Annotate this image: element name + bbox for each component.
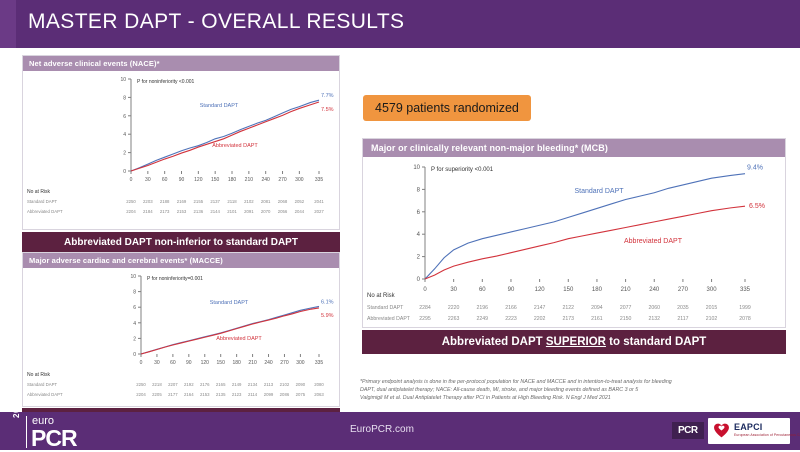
svg-text:2204: 2204: [126, 209, 136, 214]
svg-text:Standard DAPT: Standard DAPT: [200, 103, 239, 109]
footnote: *Primary endpoint analysis is done in th…: [360, 378, 792, 403]
svg-text:2052: 2052: [295, 199, 305, 204]
chart-nace-svg: 02468100306090120150180210240270300335P …: [23, 71, 339, 223]
svg-text:2144: 2144: [210, 209, 220, 214]
svg-text:2147: 2147: [534, 305, 546, 311]
svg-text:6: 6: [133, 305, 136, 311]
svg-text:90: 90: [186, 360, 192, 366]
svg-text:2: 2: [123, 151, 126, 157]
svg-text:2161: 2161: [591, 316, 603, 322]
svg-text:Standard DAPT: Standard DAPT: [210, 300, 249, 306]
svg-text:6: 6: [123, 114, 126, 120]
svg-text:6.5%: 6.5%: [749, 203, 765, 210]
svg-text:120: 120: [535, 287, 546, 293]
svg-text:2077: 2077: [620, 305, 632, 311]
svg-text:240: 240: [262, 177, 271, 183]
svg-text:60: 60: [162, 177, 168, 183]
svg-text:2114: 2114: [248, 392, 258, 397]
svg-text:210: 210: [621, 287, 632, 293]
svg-text:2184: 2184: [143, 209, 153, 214]
eapci-logo: EAPCI European Association of Percutaneo…: [708, 418, 790, 444]
svg-text:2192: 2192: [184, 382, 194, 387]
svg-text:0: 0: [123, 169, 126, 175]
svg-text:2164: 2164: [184, 392, 194, 397]
chart-macce-svg: 02468100306090120150180210240270300335P …: [23, 268, 339, 400]
banner-nace: Abbreviated DAPT non-inferior to standar…: [22, 232, 340, 253]
svg-text:No at Risk: No at Risk: [367, 293, 396, 299]
svg-text:335: 335: [740, 287, 751, 293]
svg-text:P for superiority <0.001: P for superiority <0.001: [431, 167, 494, 173]
svg-text:2075: 2075: [296, 392, 306, 397]
panel-nace-header: Net adverse clinical events (NACE)*: [23, 56, 339, 71]
svg-text:2202: 2202: [534, 316, 546, 322]
svg-text:2094: 2094: [591, 305, 603, 311]
chart-mcb-svg: 02468100306090120150180210240270300335P …: [363, 157, 785, 325]
svg-text:2118: 2118: [227, 199, 237, 204]
svg-text:7.5%: 7.5%: [321, 107, 334, 113]
banner-mcb-pre: Abbreviated DAPT: [442, 336, 546, 348]
svg-text:2134: 2134: [248, 382, 258, 387]
panel-mcb-header: Major or clinically relevant non-major b…: [363, 139, 785, 157]
svg-text:270: 270: [280, 360, 289, 366]
svg-text:180: 180: [592, 287, 603, 293]
page-title: MASTER DAPT - OVERALL RESULTS: [28, 10, 404, 34]
svg-text:180: 180: [232, 360, 241, 366]
svg-text:0: 0: [423, 287, 427, 293]
svg-text:2078: 2078: [739, 316, 751, 322]
svg-text:8: 8: [123, 95, 126, 101]
svg-text:2177: 2177: [168, 392, 178, 397]
svg-text:2169: 2169: [177, 199, 187, 204]
svg-text:2063: 2063: [314, 392, 324, 397]
svg-text:2015: 2015: [706, 305, 718, 311]
svg-text:2165: 2165: [216, 382, 226, 387]
svg-text:270: 270: [678, 287, 689, 293]
svg-text:120: 120: [201, 360, 210, 366]
banner-mcb-emphasis: SUPERIOR: [546, 336, 606, 348]
svg-text:10: 10: [130, 274, 136, 280]
svg-text:8: 8: [133, 290, 136, 296]
svg-text:150: 150: [211, 177, 220, 183]
chart-nace: 02468100306090120150180210240270300335P …: [23, 71, 339, 223]
svg-text:240: 240: [649, 287, 660, 293]
svg-text:6: 6: [417, 210, 421, 216]
banner-mcb: Abbreviated DAPT SUPERIOR to standard DA…: [362, 330, 786, 354]
svg-text:2132: 2132: [648, 316, 660, 322]
svg-text:2207: 2207: [168, 382, 178, 387]
svg-text:2153: 2153: [200, 392, 210, 397]
svg-text:P for noninferiority <0.001: P for noninferiority <0.001: [137, 79, 195, 85]
svg-text:2068: 2068: [278, 199, 288, 204]
svg-text:2081: 2081: [261, 199, 271, 204]
panel-macce-header: Major adverse cardiac and cerebral event…: [23, 253, 339, 268]
title-accent-bar: [0, 0, 16, 48]
svg-text:0: 0: [133, 352, 136, 358]
svg-text:2250: 2250: [126, 199, 136, 204]
svg-text:60: 60: [170, 360, 176, 366]
svg-text:0: 0: [417, 277, 421, 283]
svg-text:270: 270: [278, 177, 287, 183]
svg-text:300: 300: [296, 360, 305, 366]
svg-text:2086: 2086: [280, 392, 290, 397]
svg-text:Abbreviated DAPT: Abbreviated DAPT: [212, 143, 258, 149]
svg-text:4: 4: [123, 132, 126, 138]
svg-text:2135: 2135: [216, 392, 226, 397]
svg-text:2173: 2173: [563, 316, 575, 322]
svg-text:2218: 2218: [152, 382, 162, 387]
svg-text:2249: 2249: [477, 316, 489, 322]
svg-text:90: 90: [179, 177, 185, 183]
svg-text:8: 8: [417, 187, 421, 193]
pcr-badge: PCR: [672, 422, 704, 439]
svg-text:60: 60: [479, 287, 486, 293]
eapci-name: EAPCI: [734, 422, 763, 432]
svg-text:Abbreviated DAPT: Abbreviated DAPT: [624, 238, 683, 245]
logo-divider: [26, 416, 27, 448]
panel-macce: Major adverse cardiac and cerebral event…: [22, 252, 340, 407]
svg-text:2196: 2196: [477, 305, 489, 311]
svg-text:300: 300: [707, 287, 718, 293]
svg-text:6.1%: 6.1%: [321, 299, 334, 305]
svg-text:10: 10: [120, 77, 126, 83]
svg-text:2188: 2188: [160, 199, 170, 204]
svg-text:2101: 2101: [227, 209, 237, 214]
panel-nace: Net adverse clinical events (NACE)* 0246…: [22, 55, 340, 230]
europcr-logo: 2024 euro PCR: [10, 414, 96, 450]
svg-text:335: 335: [315, 177, 324, 183]
svg-text:10: 10: [413, 165, 420, 171]
svg-text:2153: 2153: [177, 209, 187, 214]
slide-title-band: MASTER DAPT - OVERALL RESULTS: [0, 0, 800, 48]
svg-text:2091: 2091: [244, 209, 254, 214]
heart-icon: [713, 422, 730, 439]
logo-pcr-text: PCR: [31, 425, 77, 452]
svg-text:5.9%: 5.9%: [321, 313, 334, 319]
svg-text:2102: 2102: [244, 199, 254, 204]
svg-text:180: 180: [228, 177, 237, 183]
svg-text:2173: 2173: [160, 209, 170, 214]
svg-text:2149: 2149: [232, 382, 242, 387]
svg-text:210: 210: [245, 177, 254, 183]
svg-text:0: 0: [140, 360, 143, 366]
svg-text:2027: 2027: [314, 209, 324, 214]
svg-text:2205: 2205: [152, 392, 162, 397]
svg-text:2284: 2284: [419, 305, 431, 311]
svg-text:240: 240: [264, 360, 273, 366]
svg-text:Abbreviated DAPT: Abbreviated DAPT: [216, 336, 262, 342]
svg-text:2060: 2060: [648, 305, 660, 311]
svg-text:2056: 2056: [278, 209, 288, 214]
svg-text:2220: 2220: [448, 305, 460, 311]
footer-website[interactable]: EuroPCR.com: [350, 424, 414, 435]
banner-mcb-post: to standard DAPT: [606, 336, 706, 348]
svg-text:P for noninferiority=0.001: P for noninferiority=0.001: [147, 276, 203, 282]
svg-text:150: 150: [217, 360, 226, 366]
svg-text:2090: 2090: [296, 382, 306, 387]
svg-text:30: 30: [154, 360, 160, 366]
svg-text:120: 120: [194, 177, 203, 183]
svg-text:4: 4: [417, 232, 421, 238]
svg-text:2102: 2102: [706, 316, 718, 322]
svg-text:Standard DAPT: Standard DAPT: [367, 305, 404, 311]
svg-text:2150: 2150: [620, 316, 632, 322]
svg-text:1999: 1999: [739, 305, 751, 311]
svg-text:2041: 2041: [314, 199, 324, 204]
svg-text:Abbreviated DAPT: Abbreviated DAPT: [27, 209, 63, 214]
svg-text:2137: 2137: [210, 199, 220, 204]
svg-text:No at Risk: No at Risk: [27, 189, 51, 195]
svg-text:2250: 2250: [136, 382, 146, 387]
svg-text:2136: 2136: [194, 209, 204, 214]
svg-text:335: 335: [315, 360, 324, 366]
svg-text:2117: 2117: [677, 316, 688, 322]
svg-text:2070: 2070: [261, 209, 271, 214]
svg-text:2113: 2113: [264, 382, 274, 387]
svg-text:2122: 2122: [563, 305, 575, 311]
svg-text:2223: 2223: [505, 316, 517, 322]
panel-mcb: Major or clinically relevant non-major b…: [362, 138, 786, 328]
svg-text:2080: 2080: [314, 382, 324, 387]
svg-text:30: 30: [450, 287, 457, 293]
svg-text:90: 90: [508, 287, 515, 293]
svg-text:Standard DAPT: Standard DAPT: [27, 382, 57, 387]
footnote-line-1: *Primary endpoint analysis is done in th…: [360, 378, 792, 386]
logo-year: 2024: [12, 398, 21, 418]
chart-macce: 02468100306090120150180210240270300335P …: [23, 268, 339, 400]
svg-text:300: 300: [295, 177, 304, 183]
footnote-line-3: Valgimigli M et al. Dual Antiplatelet Th…: [360, 394, 792, 402]
svg-text:9.4%: 9.4%: [747, 165, 763, 172]
svg-text:2099: 2099: [264, 392, 274, 397]
svg-text:No at Risk: No at Risk: [27, 372, 51, 378]
svg-text:2295: 2295: [419, 316, 431, 322]
svg-text:7.7%: 7.7%: [321, 93, 334, 99]
svg-text:2035: 2035: [677, 305, 689, 311]
svg-text:30: 30: [145, 177, 151, 183]
svg-text:2: 2: [133, 336, 136, 342]
svg-text:2176: 2176: [200, 382, 210, 387]
svg-text:Abbreviated DAPT: Abbreviated DAPT: [367, 316, 411, 322]
callout-patients-randomized: 4579 patients randomized: [363, 95, 531, 121]
svg-text:2123: 2123: [232, 392, 242, 397]
svg-text:2102: 2102: [280, 382, 290, 387]
svg-text:Standard DAPT: Standard DAPT: [574, 188, 624, 195]
svg-text:2155: 2155: [194, 199, 204, 204]
svg-text:2263: 2263: [448, 316, 460, 322]
svg-text:Standard DAPT: Standard DAPT: [27, 199, 57, 204]
svg-text:2203: 2203: [143, 199, 153, 204]
svg-text:4: 4: [133, 321, 136, 327]
svg-text:2044: 2044: [295, 209, 305, 214]
chart-mcb: 02468100306090120150180210240270300335P …: [363, 157, 785, 325]
svg-text:2166: 2166: [505, 305, 517, 311]
svg-text:210: 210: [248, 360, 257, 366]
svg-text:150: 150: [563, 287, 574, 293]
svg-text:Abbreviated DAPT: Abbreviated DAPT: [27, 392, 63, 397]
svg-text:2: 2: [417, 255, 421, 261]
footnote-line-2: DAPT, dual antiplatelet therapy; NACE: A…: [360, 386, 792, 394]
eapci-subtitle: European Association of Percutaneous Car…: [734, 433, 800, 437]
svg-text:0: 0: [130, 177, 133, 183]
svg-text:2204: 2204: [136, 392, 146, 397]
